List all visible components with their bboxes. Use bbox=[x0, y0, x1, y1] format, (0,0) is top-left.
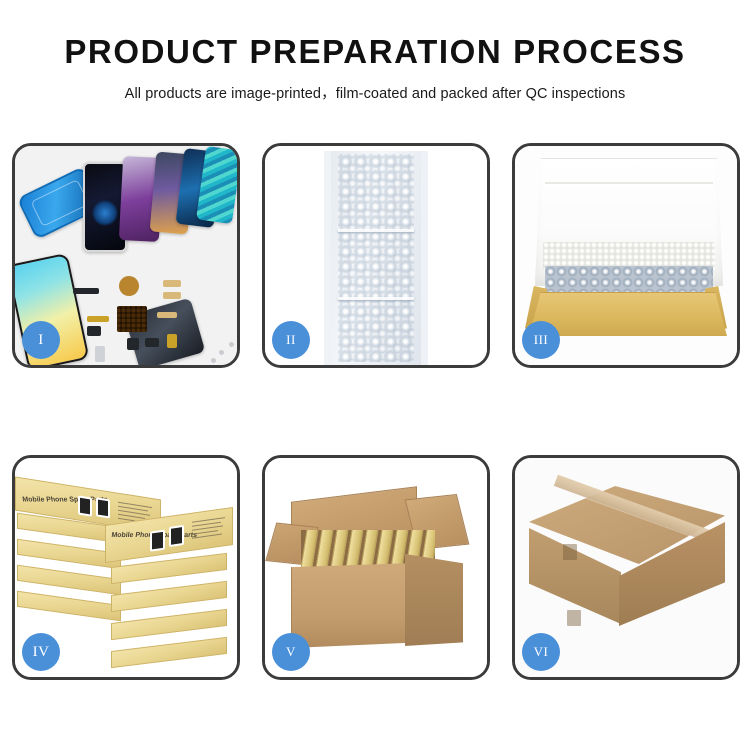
step-badge-1: I bbox=[22, 321, 60, 359]
box-screen-graphic-1 bbox=[78, 495, 92, 516]
part-battery-connector-icon bbox=[167, 334, 177, 348]
step-image-carton-packing: V bbox=[265, 458, 487, 677]
retail-box-stacked-7 bbox=[111, 609, 227, 640]
part-connector-icon bbox=[73, 288, 99, 294]
step-image-bubble-wrap: II bbox=[265, 146, 487, 365]
step-numeral-5: V bbox=[286, 644, 296, 660]
step-panel-carton-packing: V bbox=[262, 455, 490, 680]
carton-side-face-icon bbox=[405, 554, 463, 646]
page-subtitle: All products are image-printed，film-coat… bbox=[0, 82, 750, 103]
step-panel-bubble-wrap: II bbox=[262, 143, 490, 368]
step-numeral-2: II bbox=[286, 332, 296, 348]
box-front-panel-icon bbox=[529, 292, 727, 336]
page-title: PRODUCT PREPARATION PROCESS bbox=[0, 34, 750, 70]
part-coil-icon bbox=[119, 276, 139, 296]
spare-parts-group bbox=[71, 272, 237, 365]
bubble-wrapped-contents-icon bbox=[545, 266, 713, 294]
step-panel-inner-box: III bbox=[512, 143, 740, 368]
step-numeral-6: VI bbox=[534, 644, 549, 660]
retail-box-stacked-6 bbox=[111, 581, 227, 612]
part-module-icon bbox=[87, 326, 101, 336]
part-flex-cable2-icon bbox=[163, 292, 181, 299]
retail-box-stacked-3 bbox=[17, 565, 121, 596]
box-lid-crease bbox=[545, 182, 713, 184]
box-screen-graphic-2 bbox=[96, 497, 110, 518]
part-screw2-icon bbox=[229, 342, 234, 347]
part-camera-icon bbox=[145, 338, 159, 347]
step-image-inner-box: III bbox=[515, 146, 737, 365]
step-panel-sealed-carton: VI bbox=[512, 455, 740, 680]
header: PRODUCT PREPARATION PROCESS All products… bbox=[0, 0, 750, 103]
part-ribbon-icon bbox=[157, 312, 177, 318]
bubble-pattern-back bbox=[338, 154, 414, 362]
step-image-sealed-carton: VI bbox=[515, 458, 737, 677]
step-numeral-4: IV bbox=[33, 644, 50, 661]
step-badge-4: IV bbox=[22, 633, 60, 671]
part-sim-tray-icon bbox=[95, 346, 105, 362]
step-badge-6: VI bbox=[522, 633, 560, 671]
box-screen-graphic-4 bbox=[169, 525, 184, 547]
pouch-seam-bottom bbox=[338, 297, 414, 300]
step-panel-retail-boxes: Mobile Phone Spare Parts Mobile Phone Sp… bbox=[12, 455, 240, 680]
carton-handle-notch-top bbox=[563, 544, 577, 560]
part-screw3-icon bbox=[211, 358, 216, 363]
part-screw-icon bbox=[219, 350, 224, 355]
part-flex-cable-icon bbox=[163, 280, 181, 287]
part-speaker-icon bbox=[127, 338, 139, 350]
bubble-wrap-pouch-icon bbox=[324, 151, 428, 365]
part-gold-strip-icon bbox=[87, 316, 109, 322]
step-numeral-1: I bbox=[38, 332, 44, 349]
pouch-seam-top bbox=[338, 229, 414, 232]
carton-handle-notch-bottom bbox=[567, 610, 581, 626]
step-badge-5: V bbox=[272, 633, 310, 671]
step-badge-3: III bbox=[522, 321, 560, 359]
box-screen-graphic-3 bbox=[150, 530, 165, 552]
step-numeral-3: III bbox=[534, 332, 549, 348]
retail-box-stacked-4 bbox=[17, 591, 121, 622]
product-preparation-infographic: PRODUCT PREPARATION PROCESS All products… bbox=[0, 0, 750, 750]
step-badge-2: II bbox=[272, 321, 310, 359]
steps-grid: I II bbox=[12, 143, 740, 680]
step-image-retail-boxes: Mobile Phone Spare Parts Mobile Phone Sp… bbox=[15, 458, 237, 677]
step-image-products: I bbox=[15, 146, 237, 365]
step-panel-products: I bbox=[12, 143, 240, 368]
part-chip-array-icon bbox=[117, 306, 147, 332]
retail-box-stacked-8 bbox=[111, 637, 227, 668]
